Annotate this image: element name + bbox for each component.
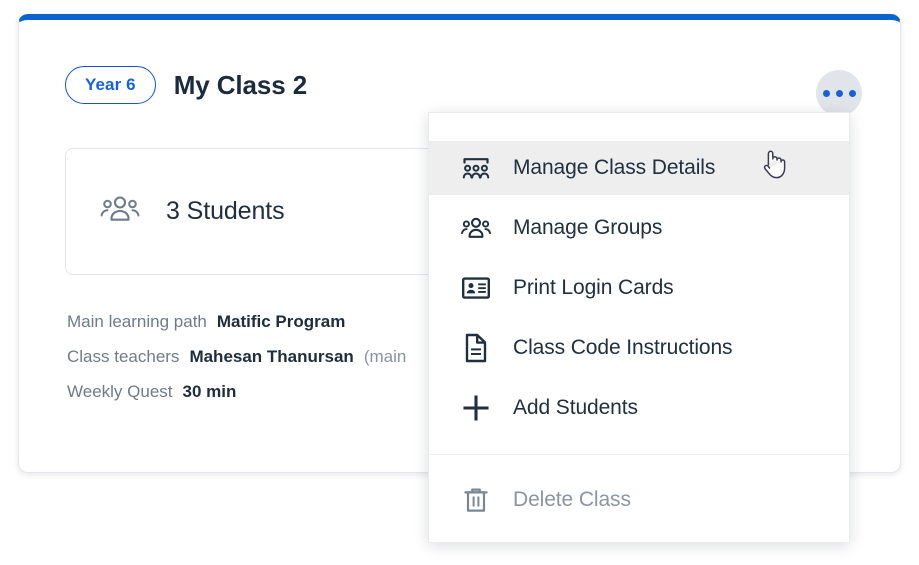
page-title: My Class 2	[174, 70, 307, 101]
plus-icon	[461, 393, 491, 423]
kebab-dot-1	[823, 90, 830, 97]
meta-label: Class teachers	[67, 347, 179, 367]
people-icon	[100, 194, 140, 229]
meta-label: Main learning path	[67, 312, 207, 332]
id-card-icon	[461, 273, 491, 303]
menu-item-label: Class Code Instructions	[513, 336, 732, 360]
class-actions-menu: Manage Class Details Manage Groups	[428, 112, 850, 543]
card-header: Year 6 My Class 2	[65, 66, 307, 104]
meta-suffix: (main	[364, 347, 407, 367]
menu-item-label: Print Login Cards	[513, 276, 674, 300]
menu-list: Manage Class Details Manage Groups	[429, 141, 849, 527]
menu-item-class-code-instructions[interactable]: Class Code Instructions	[429, 321, 849, 375]
class-group-icon	[461, 153, 491, 183]
kebab-dot-2	[836, 90, 843, 97]
menu-separator	[429, 454, 849, 455]
menu-item-manage-groups[interactable]: Manage Groups	[429, 201, 849, 255]
menu-item-add-students[interactable]: Add Students	[429, 381, 849, 435]
more-options-button[interactable]	[816, 70, 862, 116]
menu-item-label: Add Students	[513, 396, 638, 420]
meta-value: 30 min	[183, 382, 237, 402]
year-badge: Year 6	[65, 66, 156, 104]
kebab-dot-3	[849, 90, 856, 97]
document-icon	[461, 333, 491, 363]
students-count-label: 3 Students	[166, 197, 285, 226]
menu-item-delete-class[interactable]: Delete Class	[429, 473, 849, 527]
meta-value: Mahesan Thanursan	[189, 347, 353, 367]
meta-value: Matific Program	[217, 312, 345, 332]
menu-item-print-login-cards[interactable]: Print Login Cards	[429, 261, 849, 315]
menu-item-label: Manage Groups	[513, 216, 662, 240]
menu-item-manage-class-details[interactable]: Manage Class Details	[429, 141, 849, 195]
trash-icon	[461, 485, 491, 515]
menu-item-label: Manage Class Details	[513, 156, 715, 180]
meta-label: Weekly Quest	[67, 382, 173, 402]
people-icon	[461, 213, 491, 243]
menu-item-label: Delete Class	[513, 488, 631, 512]
